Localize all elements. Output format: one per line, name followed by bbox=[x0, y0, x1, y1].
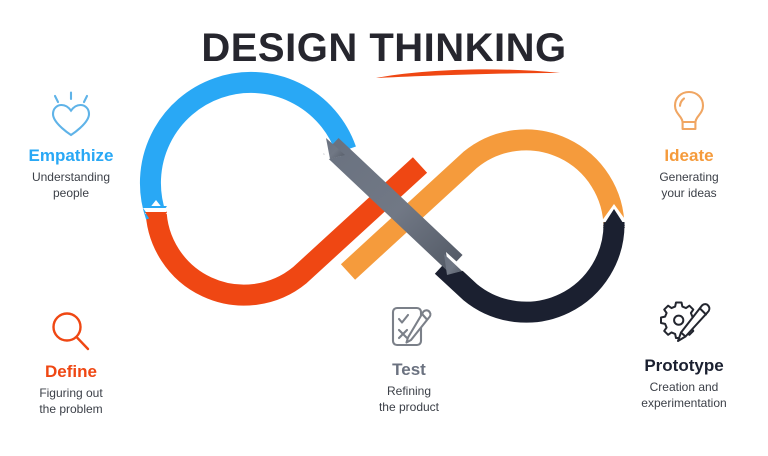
lightbulb-icon bbox=[614, 82, 764, 140]
magnifier-icon bbox=[0, 298, 146, 356]
stage-empathize-subtitle: Understanding people bbox=[0, 169, 146, 201]
stage-define-heading: Define bbox=[0, 362, 146, 382]
stage-ideate-subtitle: Generating your ideas bbox=[614, 169, 764, 201]
stage-test-heading: Test bbox=[334, 360, 484, 380]
join-notch-left bbox=[143, 208, 169, 226]
stage-prototype-subtitle: Creation and experimentation bbox=[600, 379, 768, 411]
infographic-canvas: DESIGN THINKING bbox=[0, 0, 768, 456]
stage-ideate[interactable]: Ideate Generating your ideas bbox=[614, 82, 764, 201]
stage-ideate-heading: Ideate bbox=[614, 146, 764, 166]
stage-prototype[interactable]: Prototype Creation and experimentation bbox=[600, 292, 768, 411]
loop-segment-empathize bbox=[145, 82, 346, 221]
stage-define[interactable]: Define Figuring out the problem bbox=[0, 298, 146, 417]
stage-define-subtitle: Figuring out the problem bbox=[0, 385, 146, 417]
join-notch-right bbox=[601, 204, 627, 222]
title-underline-swoosh bbox=[373, 62, 563, 82]
clipboard-pencil-icon bbox=[334, 296, 484, 354]
stage-empathize-heading: Empathize bbox=[0, 146, 146, 166]
loop-segment-ideate bbox=[348, 140, 614, 272]
loop-segment-define bbox=[145, 165, 420, 295]
stage-test-subtitle: Refining the product bbox=[334, 383, 484, 415]
stage-test[interactable]: Test Refining the product bbox=[334, 296, 484, 415]
stage-empathize[interactable]: Empathize Understanding people bbox=[0, 82, 146, 201]
loop-segment-test bbox=[322, 138, 466, 275]
heart-icon bbox=[0, 82, 146, 140]
stage-prototype-heading: Prototype bbox=[600, 356, 768, 376]
gear-pencil-icon bbox=[600, 292, 768, 350]
